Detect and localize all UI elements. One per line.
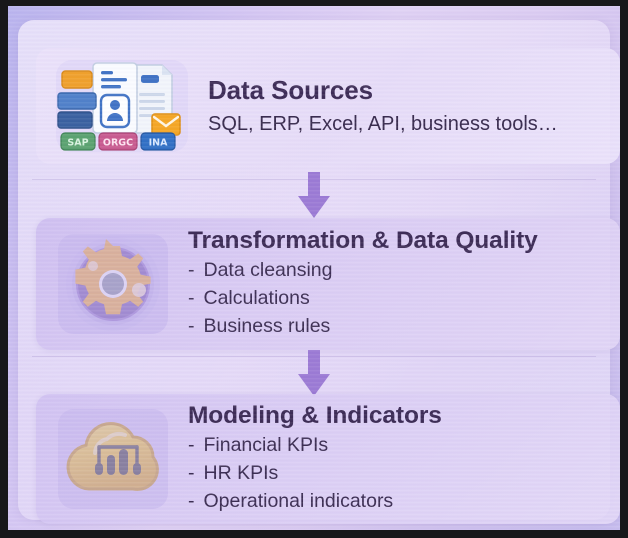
- stage-card-data-sources[interactable]: SAP ORGC INA Data Sources S: [36, 48, 620, 164]
- bullet-marker: -: [188, 460, 195, 488]
- list-item: - Data cleansing: [188, 257, 606, 285]
- screenshot-frame: SAP ORGC INA Data Sources S: [0, 0, 628, 538]
- stage-text-transformation: Transformation & Data Quality - Data cle…: [178, 227, 620, 340]
- stage-text-modeling: Modeling & Indicators - Financial KPIs -…: [178, 402, 620, 515]
- bullet-marker: -: [188, 285, 195, 313]
- list-item: - Operational indicators: [188, 488, 606, 516]
- icon-plate: [58, 234, 168, 334]
- stage-card-modeling[interactable]: Modeling & Indicators - Financial KPIs -…: [36, 394, 620, 524]
- arrow-down-icon: [291, 350, 337, 398]
- badge-orgc: ORGC: [99, 133, 137, 150]
- list-item: - Business rules: [188, 313, 606, 341]
- stage-card-transformation[interactable]: Transformation & Data Quality - Data cle…: [36, 218, 620, 350]
- stage-text-data-sources: Data Sources SQL, ERP, Excel, API, busin…: [198, 76, 620, 136]
- documents-data-icon: SAP ORGC INA: [48, 54, 198, 158]
- bullet-marker: -: [188, 257, 195, 285]
- list-item: - Financial KPIs: [188, 432, 606, 460]
- list-item-label: Data cleansing: [204, 257, 333, 285]
- list-item-label: HR KPIs: [204, 460, 279, 488]
- list-item-label: Financial KPIs: [204, 432, 329, 460]
- stage-title: Modeling & Indicators: [188, 402, 606, 429]
- svg-text:ORGC: ORGC: [103, 138, 133, 149]
- bullet-marker: -: [188, 432, 195, 460]
- stage-title: Data Sources: [208, 76, 606, 105]
- powerbi-cloud-icon: [48, 403, 178, 515]
- list-item: - HR KPIs: [188, 460, 606, 488]
- list-item-label: Operational indicators: [204, 488, 394, 516]
- pipeline-panel: SAP ORGC INA Data Sources S: [18, 20, 610, 520]
- gear-icon: [48, 228, 178, 340]
- badge-sap: SAP: [61, 133, 95, 150]
- list-item: - Calculations: [188, 285, 606, 313]
- stage-subtitle: SQL, ERP, Excel, API, business tools…: [208, 112, 606, 136]
- list-item-label: Calculations: [204, 285, 310, 313]
- list-item-label: Business rules: [204, 313, 331, 341]
- bullet-marker: -: [188, 313, 195, 341]
- stage-bullets: - Data cleansing - Calculations - Busine…: [188, 257, 606, 341]
- stage-bullets: - Financial KPIs - HR KPIs - Operational…: [188, 432, 606, 516]
- svg-text:INA: INA: [149, 138, 168, 149]
- stage-title: Transformation & Data Quality: [188, 227, 606, 254]
- documents-data-icon-art: SAP ORGC INA: [57, 59, 189, 153]
- badge-ina: INA: [141, 133, 175, 150]
- diagram-canvas: SAP ORGC INA Data Sources S: [8, 6, 620, 530]
- bullet-marker: -: [188, 488, 195, 516]
- icon-plate: [58, 409, 168, 509]
- arrow-down-icon: [291, 172, 337, 220]
- svg-text:SAP: SAP: [67, 138, 88, 149]
